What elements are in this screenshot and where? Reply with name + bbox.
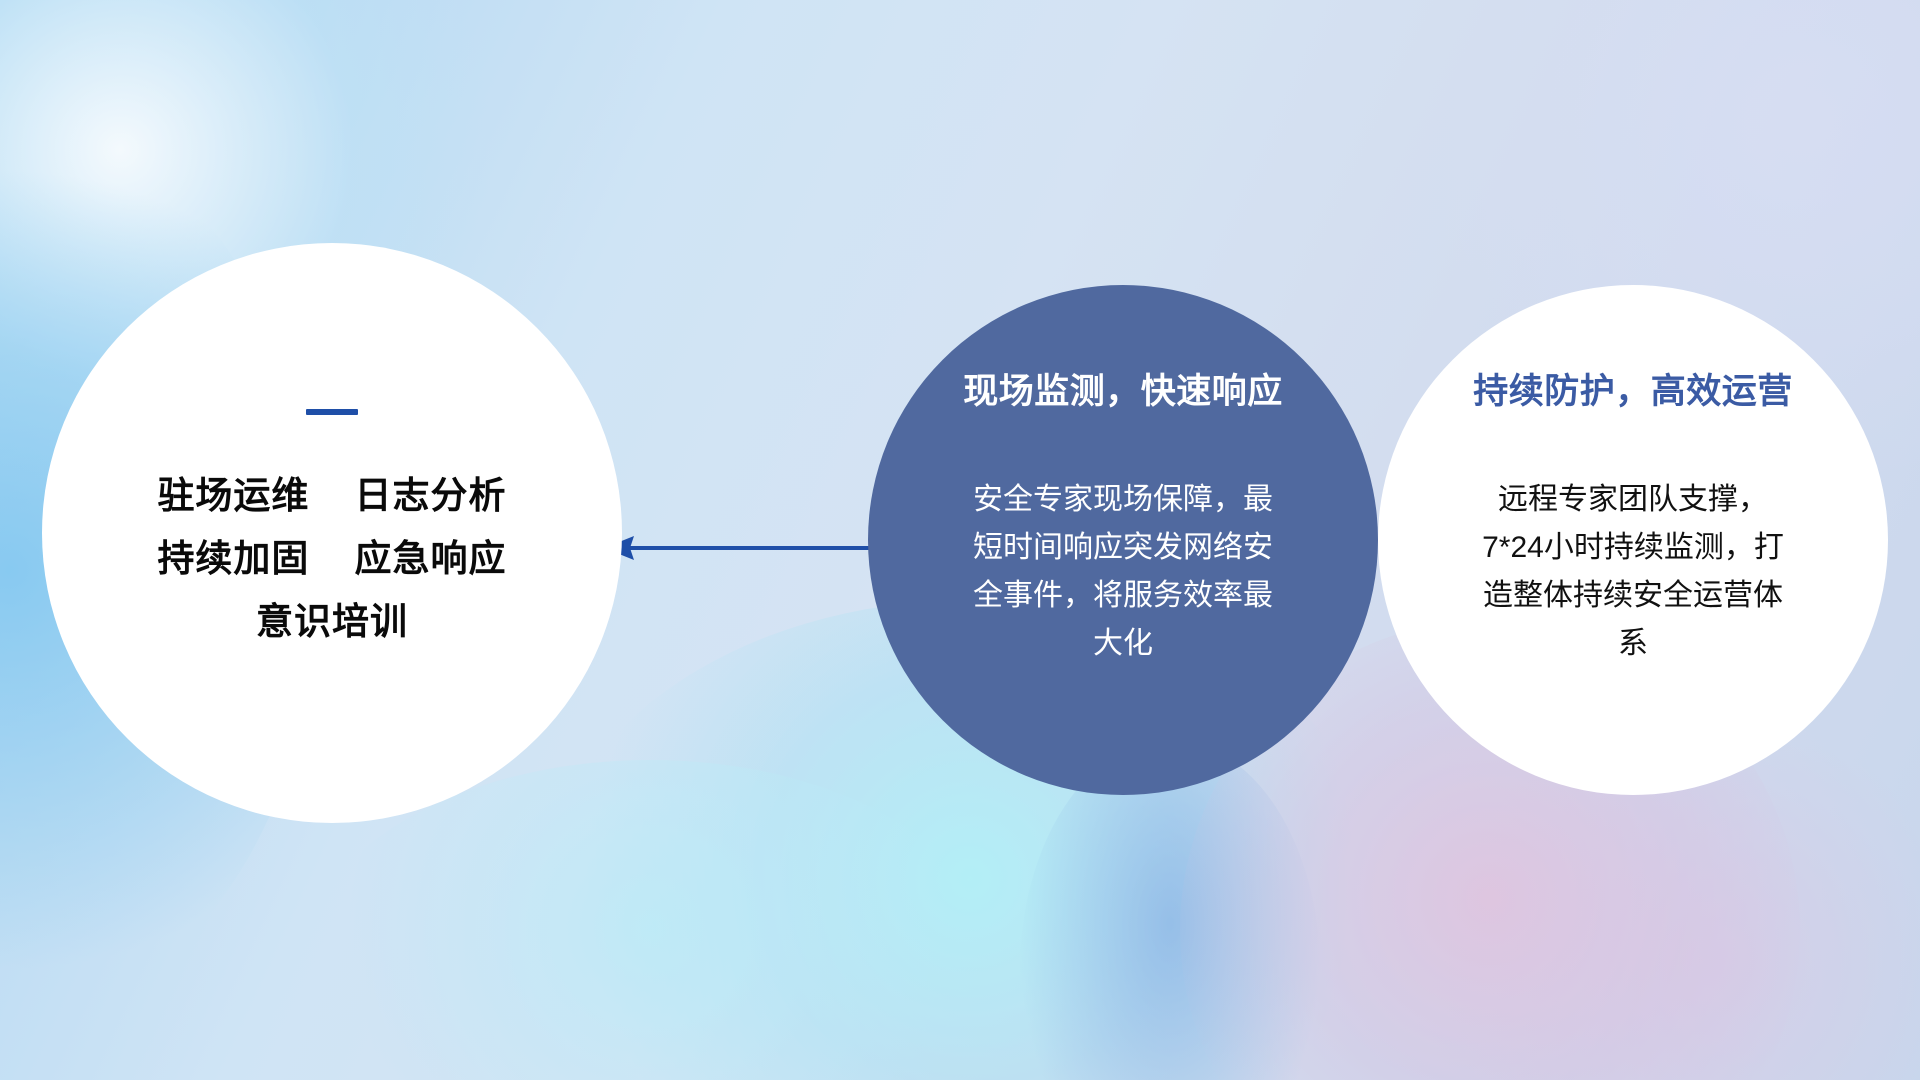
- middle-onsite-circle[interactable]: 现场监测，快速响应 安全专家现场保障，最短时间响应突发网络安全事件，将服务效率最…: [868, 285, 1378, 795]
- left-keyword-line-3: 意识培训: [157, 591, 506, 654]
- left-keyword-circle[interactable]: 驻场运维 日志分析 持续加固 应急响应 意识培训: [42, 243, 622, 823]
- blue-divider-dash: [306, 409, 358, 415]
- left-keyword-line-2: 持续加固 应急响应: [157, 528, 506, 591]
- infographic-slide: 驻场运维 日志分析 持续加固 应急响应 意识培训 现场监测，快速响应 安全专家现…: [0, 0, 1920, 1080]
- middle-card-body: 安全专家现场保障，最短时间响应突发网络安全事件，将服务效率最大化: [968, 476, 1278, 668]
- connector-arrow: [600, 520, 890, 576]
- connector-arrow-icon: [600, 520, 890, 576]
- middle-card-title: 现场监测，快速响应: [963, 363, 1283, 414]
- right-card-title: 持续防护，高效运营: [1473, 363, 1793, 414]
- right-card-body: 远程专家团队支撑，7*24小时持续监测，打造整体持续安全运营体系: [1478, 476, 1788, 668]
- left-keyword-line-1: 驻场运维 日志分析: [157, 465, 506, 528]
- right-remote-circle[interactable]: 持续防护，高效运营 远程专家团队支撑，7*24小时持续监测，打造整体持续安全运营…: [1378, 285, 1888, 795]
- left-keyword-list: 驻场运维 日志分析 持续加固 应急响应 意识培训: [157, 465, 506, 654]
